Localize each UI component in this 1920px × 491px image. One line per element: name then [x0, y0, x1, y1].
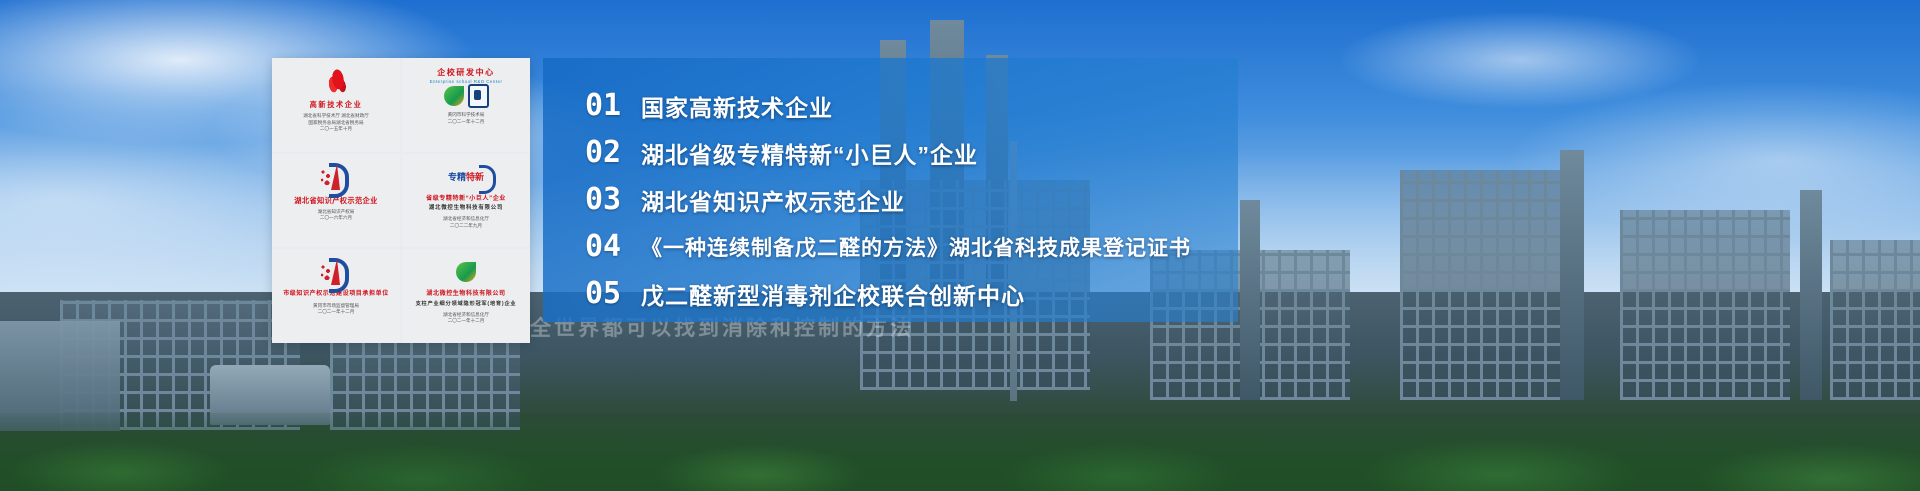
certificate-card[interactable]: 湖北微控生物科技有限公司 支柱产业细分领域隐形冠军(培育)企业 湖北省经济和信息… [402, 249, 530, 343]
achievement-label: 湖北省知识产权示范企业 [641, 183, 905, 217]
achievement-item: 03 湖北省知识产权示范企业 [585, 176, 1225, 223]
achievement-number: 02 [585, 135, 641, 170]
distillation-tower [1240, 200, 1260, 400]
achievement-label: 戊二醛新型消毒剂企校联合创新中心 [641, 277, 1025, 311]
achievement-number: 04 [585, 229, 641, 264]
vegetation-strip [0, 413, 1920, 491]
distillation-tower [1560, 150, 1584, 400]
refinery-structure [1620, 210, 1790, 400]
certificate-title: 湖北微控生物科技有限公司 [426, 291, 505, 299]
achievement-number: 03 [585, 182, 641, 217]
refinery-structure [1830, 240, 1920, 400]
flame-icon [325, 64, 347, 98]
refinery-structure [1400, 170, 1580, 400]
zhuanjing-texin-icon: 专精特新 [438, 160, 494, 194]
certificate-issuer: 湖北省经济和信息化厅 二〇二一年十二月 [443, 312, 489, 325]
sail-mark-icon [321, 255, 351, 289]
achievement-item: 01 国家高新技术企业 [585, 82, 1225, 129]
certificate-subtitle: 湖北微控生物科技有限公司 [429, 205, 503, 212]
achievements-list: 01 国家高新技术企业 02 湖北省级专精特新“小巨人”企业 03 湖北省知识产… [585, 82, 1225, 317]
certificate-card[interactable]: 企校研发中心 Enterprise school R&D Center 黄冈市科… [402, 58, 530, 152]
distillation-tower [1800, 190, 1822, 400]
achievement-item: 02 湖北省级专精特新“小巨人”企业 [585, 129, 1225, 176]
achievement-item: 04 《一种连续制备戊二醛的方法》湖北省科技成果登记证书 [585, 223, 1225, 270]
certificate-card[interactable]: 高新技术企业 湖北省科学技术厅 湖北省财政厅 国家税务总局湖北省税务局 二〇一五… [272, 58, 400, 152]
certificate-card[interactable]: 专精特新 省级专精特新“小巨人”企业 湖北微控生物科技有限公司 湖北省经济和信息… [402, 154, 530, 248]
certificate-issuer: 湖北省知识产权局 二〇一六年六月 [318, 209, 355, 222]
banner-stage: 全世界都可以找到消除和控制的方法 01 国家高新技术企业 02 湖北省级专精特新… [0, 0, 1920, 491]
certificate-issuer: 湖北省科学技术厅 湖北省财政厅 国家税务总局湖北省税务局 二〇一五年十月 [303, 113, 369, 133]
achievement-label: 湖北省级专精特新“小巨人”企业 [641, 136, 978, 170]
certificate-issuer: 黄冈市科学技术局 二〇二一年十二月 [448, 112, 485, 125]
certificate-subtitle: 支柱产业细分领域隐形冠军(培育)企业 [416, 301, 517, 308]
sail-mark-icon [321, 160, 351, 194]
achievement-number: 01 [585, 88, 641, 123]
certificate-issuer: 黄冈市市场监督管理局 二〇二一年十二月 [313, 303, 359, 316]
achievement-label: 国家高新技术企业 [641, 89, 833, 123]
certificate-title: 企校研发中心 [437, 68, 495, 78]
achievement-label: 《一种连续制备戊二醛的方法》湖北省科技成果登记证书 [641, 232, 1191, 262]
eco-leaf-icon [444, 84, 489, 108]
certificate-title: 省级专精特新“小巨人”企业 [426, 196, 506, 204]
certificate-card[interactable]: 湖北省知识产权示范企业 湖北省知识产权局 二〇一六年六月 [272, 154, 400, 248]
achievement-item: 05 戊二醛新型消毒剂企校联合创新中心 [585, 270, 1225, 317]
certificate-grid: 高新技术企业 湖北省科学技术厅 湖北省财政厅 国家税务总局湖北省税务局 二〇一五… [272, 58, 530, 343]
achievement-number: 05 [585, 276, 641, 311]
certificate-issuer: 湖北省经济和信息化厅 二〇二二年九月 [443, 216, 489, 229]
eco-leaf-icon [456, 255, 476, 289]
certificate-card[interactable]: 市级知识产权示范建设项目承担单位 黄冈市市场监督管理局 二〇二一年十二月 [272, 249, 400, 343]
certificate-title: 高新技术企业 [310, 100, 363, 109]
